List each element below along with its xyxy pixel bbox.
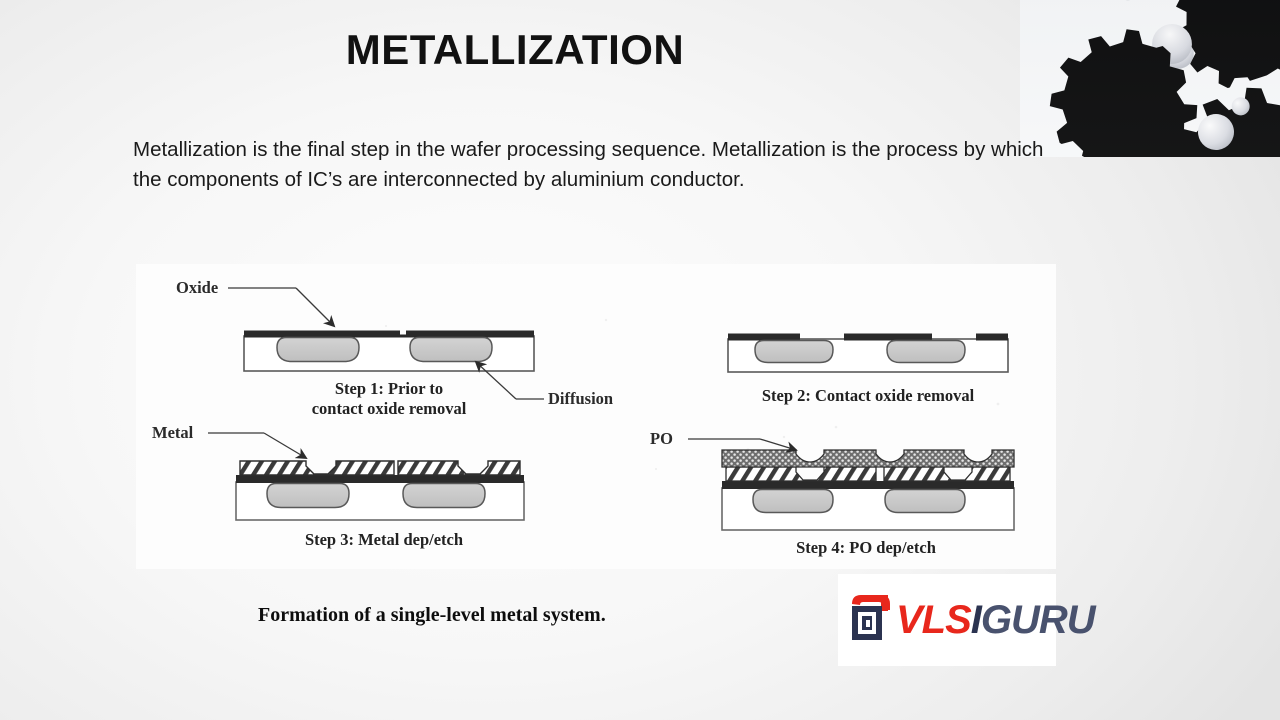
step1-label-line2: contact oxide removal: [312, 399, 467, 418]
slide-canvas: METALLIZATION Metallization is the final…: [0, 0, 1280, 720]
label-oxide: Oxide: [176, 278, 218, 297]
vlsiguru-logo[interactable]: VLSIGURU: [838, 574, 1056, 666]
step2-label: Step 2: Contact oxide removal: [762, 386, 975, 405]
step2-figure: Step 2: Contact oxide removal: [728, 334, 1008, 406]
step4-label: Step 4: PO dep/etch: [796, 538, 936, 557]
label-po: PO: [650, 429, 673, 448]
process-diagram-figure: Oxide Diffusion Step 1: Prior to contact…: [136, 264, 1056, 569]
logo-text-guru: GURU: [981, 598, 1095, 642]
label-metal: Metal: [152, 423, 194, 442]
step3-label: Step 3: Metal dep/etch: [305, 530, 463, 549]
logo-text-vls: VLS: [896, 598, 971, 642]
gears-decoration-icon: [1020, 0, 1280, 157]
label-diffusion: Diffusion: [548, 389, 613, 408]
logo-wordmark: VLSIGURU: [896, 600, 1095, 640]
logo-mark-icon: [848, 592, 894, 649]
body-paragraph: Metallization is the final step in the w…: [133, 135, 1058, 195]
step1-label-line1: Step 1: Prior to: [335, 379, 443, 398]
logo-text-i: I: [971, 598, 981, 642]
page-title: METALLIZATION: [0, 26, 1030, 74]
figure-caption: Formation of a single-level metal system…: [258, 604, 606, 627]
